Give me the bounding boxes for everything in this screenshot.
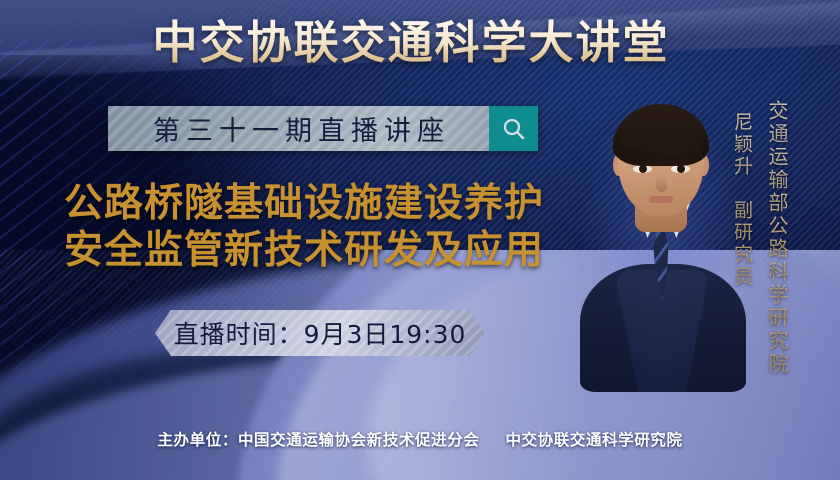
portrait-mouth — [649, 196, 673, 203]
speaker-organization: 交通运输部公路科学研究院 — [763, 100, 792, 376]
portrait-eye-right — [671, 165, 690, 173]
page-title: 中交协联交通科学大讲堂 — [0, 16, 840, 70]
footer: 主办单位：中国交通运输协会新技术促进分会 中交协联交通科学研究院 — [0, 426, 840, 452]
lecture-headline: 公路桥隧基础设施建设养护 安全监管新技术研发及应用 — [34, 180, 574, 274]
search-icon[interactable] — [489, 106, 538, 151]
episode-banner-body: 第三十一期直播讲座 — [108, 106, 489, 151]
episode-banner: 第三十一期直播讲座 — [108, 106, 538, 151]
portrait-eye-left — [633, 165, 652, 173]
episode-label: 第三十一期直播讲座 — [147, 109, 450, 148]
live-lecture-poster: 中交协联交通科学大讲堂 第三十一期直播讲座 公路桥隧基础设施建设养护 安全监管新… — [0, 0, 840, 480]
headline-line-2: 安全监管新技术研发及应用 — [34, 227, 574, 274]
speaker-name-title: 尼颖升 副研究员 — [729, 112, 756, 288]
broadcast-time-label: 直播时间：9月3日19:30 — [174, 315, 467, 351]
broadcast-time-badge: 直播时间：9月3日19:30 — [155, 310, 485, 356]
headline-line-1: 公路桥隧基础设施建设养护 — [34, 180, 574, 227]
footer-co-organizer: 中交协联交通科学研究院 — [505, 428, 682, 450]
portrait-nose — [656, 176, 667, 192]
speaker-portrait — [586, 92, 736, 392]
footer-organizer: 主办单位：中国交通运输协会新技术促进分会 — [157, 428, 479, 450]
